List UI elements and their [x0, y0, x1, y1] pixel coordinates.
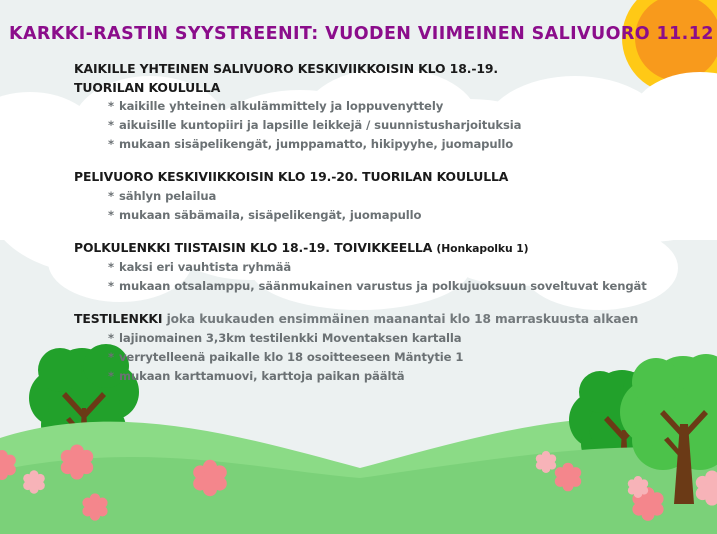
bullet-marker-icon: *	[108, 369, 114, 383]
bullet-item: *aikuisille kuntopiiri ja lapsille leikk…	[74, 116, 694, 135]
block-heading-text: POLKULENKKI TIISTAISIN KLO 18.-19. TOIVI…	[74, 240, 432, 255]
bullet-text: mukaan otsalamppu, säänmukainen varustus…	[119, 279, 647, 293]
bullet-item: *mukaan säbämaila, sisäpelikengät, juoma…	[74, 206, 694, 225]
bullet-item: *kaikille yhteinen alkulämmittely ja lop…	[74, 97, 694, 116]
block-heading: POLKULENKKI TIISTAISIN KLO 18.-19. TOIVI…	[74, 239, 694, 259]
schedule-block: PELIVUORO KESKIVIIKKOISIN KLO 19.-20. TU…	[74, 168, 694, 225]
bullet-marker-icon: *	[108, 137, 114, 151]
flower	[696, 470, 717, 505]
flower	[628, 476, 648, 498]
flower	[0, 450, 16, 480]
bullet-text: mukaan säbämaila, sisäpelikengät, juomap…	[119, 208, 421, 222]
bullet-text: verrytelleenä paikalle klo 18 osoitteese…	[119, 350, 463, 364]
block-heading: PELIVUORO KESKIVIIKKOISIN KLO 19.-20. TU…	[74, 168, 694, 187]
flower	[23, 470, 45, 493]
flower	[555, 463, 581, 492]
block-heading-note: (Honkapolku 1)	[436, 242, 528, 255]
block-heading: TESTILENKKI joka kuukauden ensimmäinen m…	[74, 310, 694, 329]
schedule-block: TESTILENKKI joka kuukauden ensimmäinen m…	[74, 310, 694, 386]
flower-group	[0, 444, 717, 520]
bullet-marker-icon: *	[108, 99, 114, 113]
bullet-marker-icon: *	[108, 208, 114, 222]
tree-right-back	[569, 369, 676, 500]
grass-hill-front	[0, 447, 717, 534]
bullet-item: *mukaan karttamuovi, karttoja paikan pää…	[74, 367, 694, 386]
bullet-marker-icon: *	[108, 189, 114, 203]
bullet-text: lajinomainen 3,3km testilenkki Moventaks…	[119, 331, 462, 345]
schedule-block: POLKULENKKI TIISTAISIN KLO 18.-19. TOIVI…	[74, 239, 694, 297]
bullet-item: *verrytelleenä paikalle klo 18 osoittees…	[74, 348, 694, 367]
bullet-text: aikuisille kuntopiiri ja lapsille leikke…	[119, 118, 521, 132]
bullet-item: *sählyn pelailua	[74, 187, 694, 206]
flower	[61, 444, 93, 479]
block-heading-text: TUORILAN KOULULLA	[74, 80, 220, 95]
bullet-text: sählyn pelailua	[119, 189, 216, 203]
bullet-marker-icon: *	[108, 331, 114, 345]
flower	[536, 451, 556, 473]
block-heading: TUORILAN KOULULLA	[74, 79, 694, 98]
bullet-item: *lajinomainen 3,3km testilenkki Moventak…	[74, 329, 694, 348]
poster-body: KAIKILLE YHTEINEN SALIVUORO KESKIVIIKKOI…	[74, 60, 694, 386]
poster-title: KARKKI-RASTIN SYYSTREENIT: VUODEN VIIMEI…	[9, 24, 714, 44]
grass-hill-back	[0, 418, 717, 534]
bullet-item: *mukaan otsalamppu, säänmukainen varustu…	[74, 277, 694, 296]
bullet-text: kaikille yhteinen alkulämmittely ja lopp…	[119, 99, 443, 113]
flower	[632, 487, 663, 521]
block-heading-subtitle: joka kuukauden ensimmäinen maanantai klo…	[167, 312, 639, 326]
bullet-text: mukaan karttamuovi, karttoja paikan pääl…	[119, 369, 405, 383]
bullet-marker-icon: *	[108, 279, 114, 293]
flower	[193, 460, 227, 496]
bullet-item: *kaksi eri vauhtista ryhmää	[74, 258, 694, 277]
bullet-marker-icon: *	[108, 118, 114, 132]
bullet-marker-icon: *	[108, 260, 114, 274]
bullet-text: kaksi eri vauhtista ryhmää	[119, 260, 291, 274]
bullet-text: mukaan sisäpelikengät, jumppamatto, hiki…	[119, 137, 513, 151]
bullet-marker-icon: *	[108, 350, 114, 364]
schedule-block: KAIKILLE YHTEINEN SALIVUORO KESKIVIIKKOI…	[74, 60, 694, 154]
bullet-item: *mukaan sisäpelikengät, jumppamatto, hik…	[74, 135, 694, 154]
poster-canvas: KARKKI-RASTIN SYYSTREENIT: VUODEN VIIMEI…	[0, 0, 717, 534]
flower	[82, 493, 107, 520]
block-heading-text: PELIVUORO KESKIVIIKKOISIN KLO 19.-20. TU…	[74, 169, 508, 184]
block-heading-text: KAIKILLE YHTEINEN SALIVUORO KESKIVIIKKOI…	[74, 61, 498, 76]
block-heading: KAIKILLE YHTEINEN SALIVUORO KESKIVIIKKOI…	[74, 60, 694, 79]
block-heading-text: TESTILENKKI	[74, 311, 162, 326]
